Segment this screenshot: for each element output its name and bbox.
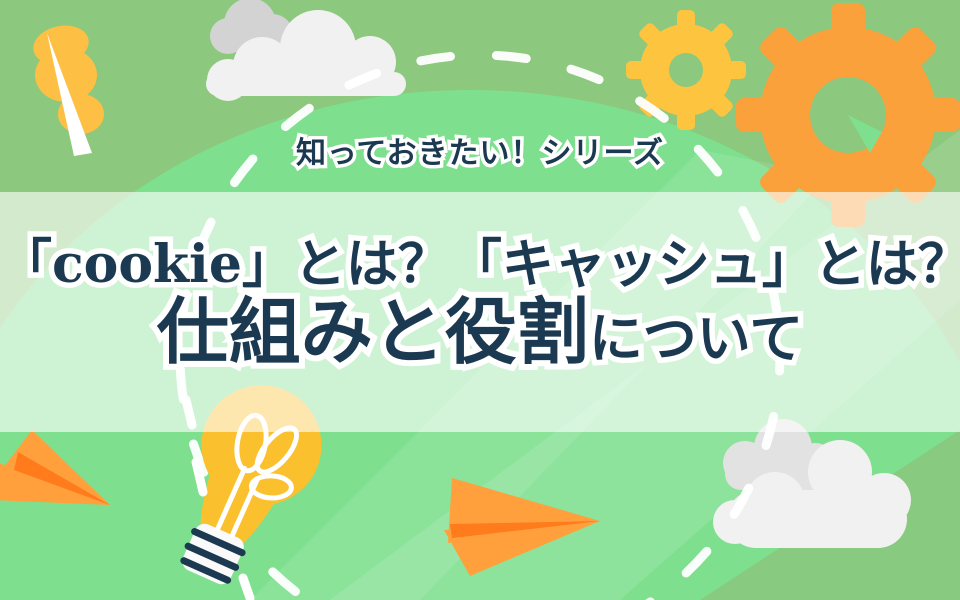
title-line-2-tail: について — [589, 307, 803, 370]
title-line-2-emphasis: 仕組みと役割 — [157, 290, 589, 374]
banner-canvas: 知っておきたい！シリーズ 「cookie」とは？「キャッシュ」とは？ 仕組みと役… — [0, 0, 960, 600]
title-line-1: 「cookie」とは？「キャッシュ」とは？ — [0, 222, 960, 297]
title-block: 知っておきたい！シリーズ 「cookie」とは？「キャッシュ」とは？ 仕組みと役… — [0, 0, 960, 600]
title-line-2: 仕組みと役割について — [0, 296, 960, 368]
kicker-text: 知っておきたい！シリーズ — [0, 128, 960, 172]
